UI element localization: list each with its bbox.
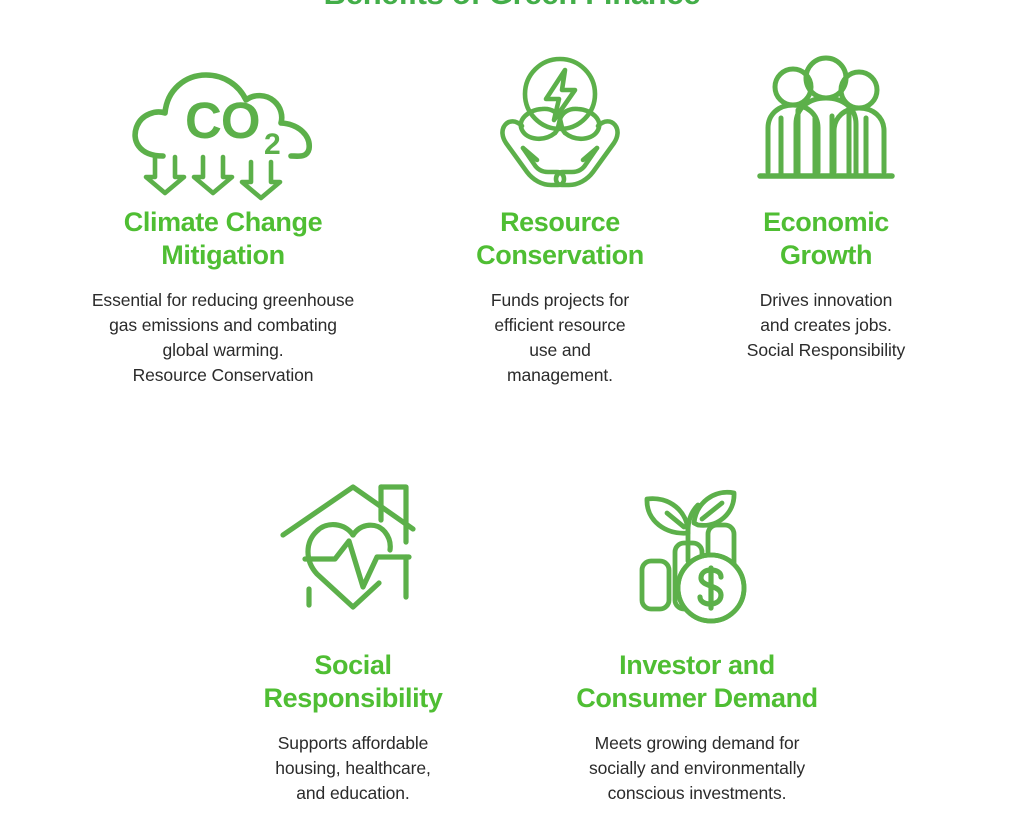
card-title: Climate Change Mitigation <box>43 206 403 272</box>
svg-text:2: 2 <box>264 128 281 161</box>
infographic-canvas: Benefits of Green Finance CO 2 Climate C… <box>0 0 1024 832</box>
svg-text:CO: CO <box>185 92 260 149</box>
card-description: Drives innovation and creates jobs. Soci… <box>706 288 946 363</box>
card-economic-growth: Economic Growth Drives innovation and cr… <box>706 52 946 363</box>
card-title: Social Responsibility <box>233 649 473 715</box>
hands-holding-leaves-energy-icon <box>440 52 680 192</box>
card-title: Economic Growth <box>706 206 946 272</box>
card-description: Meets growing demand for socially and en… <box>530 731 864 806</box>
co2-cloud-arrows-icon: CO 2 <box>43 52 403 192</box>
card-description: Funds projects for efficient resource us… <box>440 288 680 388</box>
plant-bars-dollar-coin-icon <box>530 470 864 635</box>
house-heart-pulse-icon <box>233 470 473 635</box>
card-climate-change-mitigation: CO 2 Climate Change Mitigation Essential… <box>43 52 403 388</box>
card-social-responsibility: Social Responsibility Supports affordabl… <box>233 470 473 806</box>
page-title-clipped: Benefits of Green Finance <box>0 0 1024 12</box>
card-title: Investor and Consumer Demand <box>530 649 864 715</box>
card-investor-consumer-demand: Investor and Consumer Demand Meets growi… <box>530 470 864 806</box>
people-bar-chart-icon <box>706 52 946 192</box>
card-resource-conservation: Resource Conservation Funds projects for… <box>440 52 680 388</box>
card-description: Essential for reducing greenhouse gas em… <box>43 288 403 388</box>
card-description: Supports affordable housing, healthcare,… <box>233 731 473 806</box>
card-title: Resource Conservation <box>440 206 680 272</box>
